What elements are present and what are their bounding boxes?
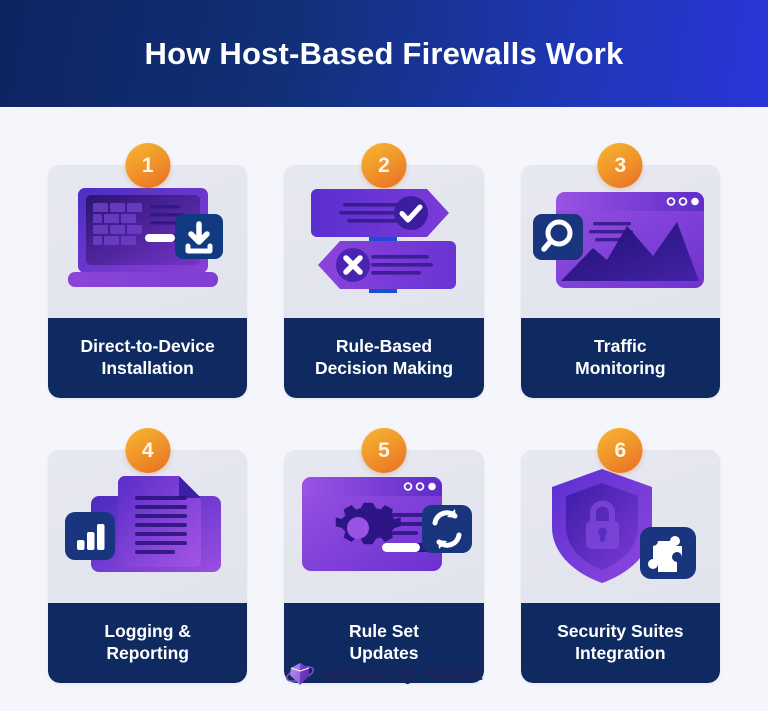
steps-grid: 1 [0, 107, 768, 683]
card-title-line1: Direct-to-Device [81, 335, 215, 357]
infographic-page: How Host-Based Firewalls Work 1 [0, 0, 768, 711]
step-number-badge-6: 6 [598, 428, 643, 473]
gem-planet-icon [285, 659, 315, 689]
footer-brand-row: eSecurity Planet [0, 659, 768, 689]
step-card-4: 4 [48, 428, 247, 683]
card-title-line2: Monitoring [575, 357, 665, 379]
card-label-2: Rule-Based Decision Making [284, 318, 483, 398]
brand-name: eSecurity Planet [324, 663, 483, 686]
card-title-line1: Logging & [104, 620, 191, 642]
step-card-6: 6 [521, 428, 720, 683]
card-title-line2: Decision Making [315, 357, 453, 379]
card-title-line1: Security Suites [557, 620, 683, 642]
card-title-line1: Traffic [575, 335, 665, 357]
step-card-3: 3 [521, 143, 720, 398]
card-title-line1: Rule-Based [315, 335, 453, 357]
card-title-line2: Installation [81, 357, 215, 379]
step-number-badge-3: 3 [598, 143, 643, 188]
step-number-badge-1: 1 [125, 143, 170, 188]
header-banner: How Host-Based Firewalls Work [0, 0, 768, 107]
step-number-badge-4: 4 [125, 428, 170, 473]
card-label-1: Direct-to-Device Installation [48, 318, 247, 398]
card-label-3: Traffic Monitoring [521, 318, 720, 398]
step-number-badge-2: 2 [361, 143, 406, 188]
step-card-1: 1 [48, 143, 247, 398]
step-number-badge-5: 5 [361, 428, 406, 473]
step-card-2: 2 [284, 143, 483, 398]
card-title-line1: Rule Set [349, 620, 419, 642]
page-title: How Host-Based Firewalls Work [145, 36, 624, 72]
step-card-5: 5 [284, 428, 483, 683]
